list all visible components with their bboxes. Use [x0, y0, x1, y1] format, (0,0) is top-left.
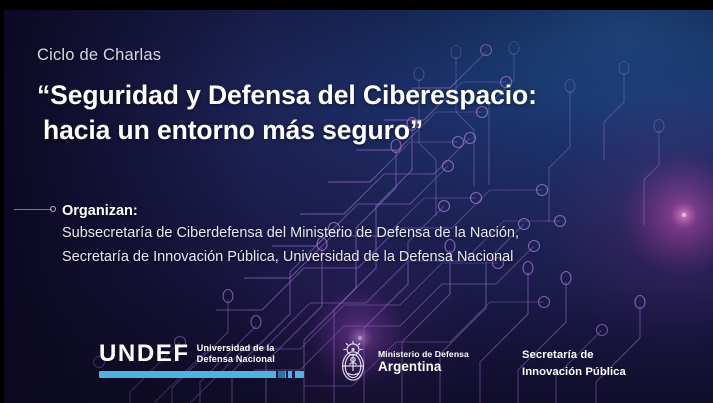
title-line-2: hacia un entorno más seguro”: [37, 113, 647, 148]
organizers-line-1: Subsecretaría de Ciberdefensa del Minist…: [62, 222, 662, 245]
ministerio-line-1: Ministerio de Defensa: [378, 349, 469, 360]
bullet-rule: [14, 209, 52, 210]
logo-strip: UNDEF Universidad de la Defensa Nacional: [4, 332, 713, 396]
ministerio-line-2: Argentina: [378, 359, 469, 375]
headline-block: Ciclo de Charlas “Seguridad y Defensa de…: [37, 46, 647, 148]
organizers-label: Organizan:: [62, 200, 662, 222]
undef-wordmark: UNDEF: [99, 342, 190, 366]
ministerio-defensa-logo: Ministerio de Defensa Argentina: [336, 340, 469, 384]
ministerio-text: Ministerio de Defensa Argentina: [378, 349, 469, 376]
undef-subtitle: Universidad de la Defensa Nacional: [197, 343, 275, 365]
organizers-line-2: Secretaría de Innovación Pública, Univer…: [62, 246, 662, 269]
secretaria-line-1: Secretaría de: [522, 347, 626, 364]
undef-accent-bar: [99, 371, 304, 378]
argentina-shield-icon: [336, 340, 370, 384]
undef-subtitle-line-1: Universidad de la: [197, 343, 275, 353]
presentation-slide: Ciclo de Charlas “Seguridad y Defensa de…: [4, 10, 713, 403]
title-line-1: “Seguridad y Defensa del Ciberespacio:: [37, 78, 647, 113]
undef-logo: UNDEF Universidad de la Defensa Nacional: [99, 342, 304, 378]
page-title: “Seguridad y Defensa del Ciberespacio: h…: [37, 78, 647, 148]
kicker-text: Ciclo de Charlas: [37, 46, 647, 66]
secretaria-innovacion-publica-logo: Secretaría de Innovación Pública: [522, 347, 626, 381]
undef-subtitle-line-2: Defensa Nacional: [197, 354, 275, 364]
secretaria-line-2: Innovación Pública: [522, 364, 626, 381]
bullet-circle-icon: [50, 206, 56, 212]
organizers-block: Organizan: Subsecretaría de Ciberdefensa…: [62, 200, 662, 269]
slide-screenshot: Ciclo de Charlas “Seguridad y Defensa de…: [0, 0, 713, 403]
